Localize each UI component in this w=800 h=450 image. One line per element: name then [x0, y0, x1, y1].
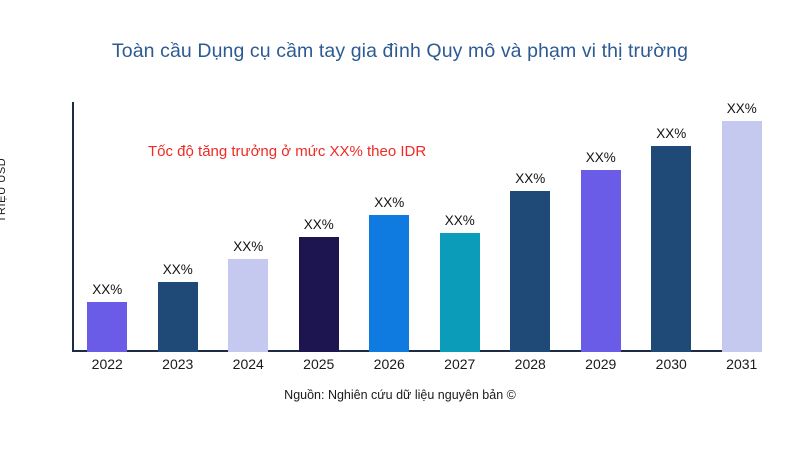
bar-value-label: XX%	[656, 126, 686, 141]
x-tick-label: 2022	[72, 356, 143, 372]
bar-group: XX%	[72, 96, 143, 352]
x-tick-label: 2028	[495, 356, 566, 372]
source-note: Nguồn: Nghiên cứu dữ liệu nguyên bản ©	[0, 388, 800, 402]
x-tick-label: 2024	[213, 356, 284, 372]
bar-group: XX%	[425, 96, 496, 352]
x-tick-label: 2026	[354, 356, 425, 372]
bar-value-label: XX%	[304, 217, 334, 232]
bar-group: XX%	[566, 96, 637, 352]
bar[interactable]	[722, 121, 762, 352]
bar[interactable]	[369, 215, 409, 352]
x-tick-label: 2025	[284, 356, 355, 372]
bar-value-label: XX%	[445, 213, 475, 228]
x-tick-label: 2029	[566, 356, 637, 372]
plot-area: XX%XX%XX%XX%XX%XX%XX%XX%XX%XX%	[72, 96, 792, 352]
bar-group: XX%	[707, 96, 778, 352]
bar[interactable]	[158, 282, 198, 352]
chart-title: Toàn cầu Dụng cụ cầm tay gia đình Quy mô…	[0, 40, 800, 63]
x-tick-label: 2027	[425, 356, 496, 372]
y-axis-label: TRIỆU USD	[0, 130, 8, 250]
bar-group: XX%	[143, 96, 214, 352]
bar[interactable]	[228, 259, 268, 352]
bar-group: XX%	[213, 96, 284, 352]
bar-group: XX%	[636, 96, 707, 352]
bar-value-label: XX%	[92, 282, 122, 297]
bar-value-label: XX%	[163, 262, 193, 277]
bar[interactable]	[581, 170, 621, 352]
x-tick-label: 2031	[707, 356, 778, 372]
bar-value-label: XX%	[233, 239, 263, 254]
bar[interactable]	[87, 302, 127, 352]
chart-container: Toàn cầu Dụng cụ cầm tay gia đình Quy mô…	[0, 0, 800, 450]
bar-group: XX%	[495, 96, 566, 352]
bar[interactable]	[440, 233, 480, 352]
bar[interactable]	[651, 146, 691, 352]
bar-group: XX%	[284, 96, 355, 352]
x-tick-label: 2023	[143, 356, 214, 372]
bar[interactable]	[299, 237, 339, 352]
x-tick-label: 2030	[636, 356, 707, 372]
bar-value-label: XX%	[727, 101, 757, 116]
bar-value-label: XX%	[374, 195, 404, 210]
bar-value-label: XX%	[586, 150, 616, 165]
bar-group: XX%	[354, 96, 425, 352]
x-axis-tick-labels: 2022202320242025202620272028202920302031	[72, 356, 792, 382]
bar[interactable]	[510, 191, 550, 352]
bar-value-label: XX%	[515, 171, 545, 186]
